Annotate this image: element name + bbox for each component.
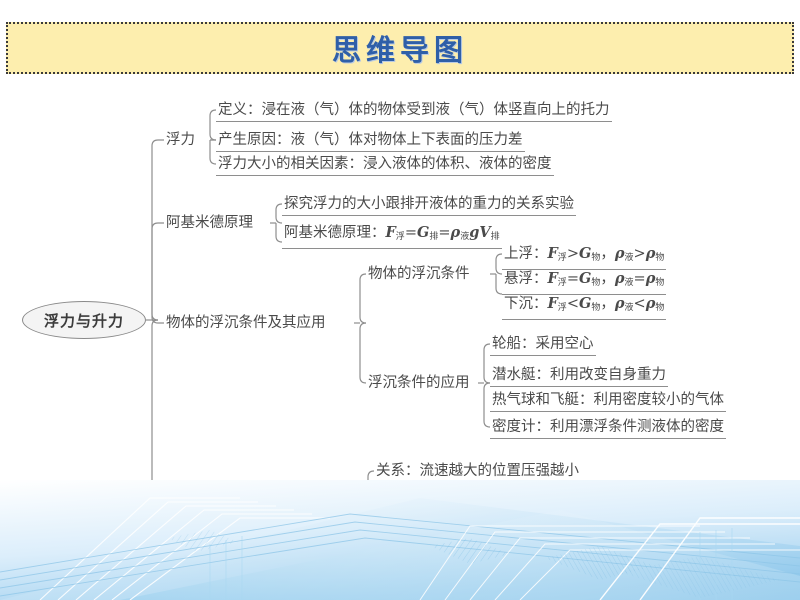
- leaf-fluid-application[interactable]: 应用：飞机机翼、火车站安全线等: [374, 490, 596, 512]
- formula-prefix: 阿基米德原理：: [284, 225, 386, 241]
- slide-page: 思维导图: [0, 0, 800, 600]
- mindmap-canvas: 浮力与升力 浮力 阿基米德原理 物体的浮沉条件及其应用 流体压强与流速的关系 定…: [0, 78, 800, 523]
- sublabel-applications[interactable]: 浮沉条件的应用: [366, 373, 472, 394]
- root-node-label: 浮力与升力: [44, 310, 124, 331]
- leaf-float-up[interactable]: 上浮：F浮>G物，ρ液>ρ物: [502, 244, 666, 270]
- formula-body: F浮=G排=ρ液gV排: [386, 224, 500, 241]
- branch-label-archimedes[interactable]: 阿基米德原理: [164, 213, 255, 234]
- sublabel-floating-conditions[interactable]: 物体的浮沉条件: [366, 264, 472, 285]
- leaf-balloon-airship[interactable]: 热气球和飞艇：利用密度较小的气体: [490, 390, 726, 412]
- leaf-sink-prefix: 下沉：: [504, 296, 548, 312]
- root-node[interactable]: 浮力与升力: [22, 301, 146, 339]
- leaf-archimedes-formula[interactable]: 阿基米德原理：F浮=G排=ρ液gV排: [282, 223, 502, 249]
- leaf-fuli-cause[interactable]: 产生原因：液（气）体对物体上下表面的压力差: [216, 130, 525, 152]
- branch-label-fluid-pressure[interactable]: 流体压强与流速的关系: [164, 480, 313, 501]
- leaf-ship[interactable]: 轮船：采用空心: [490, 334, 596, 356]
- leaf-hydrometer[interactable]: 密度计：利用漂浮条件测液体的密度: [490, 417, 726, 439]
- leaf-submarine[interactable]: 潜水艇：利用改变自身重力: [490, 365, 668, 387]
- title-banner: 思维导图: [6, 22, 794, 74]
- leaf-fuli-factors[interactable]: 浮力大小的相关因素：浸入液体的体积、液体的密度: [216, 154, 554, 176]
- leaf-archimedes-experiment[interactable]: 探究浮力的大小跟排开液体的重力的关系实验: [282, 194, 576, 216]
- branch-label-floating-conditions[interactable]: 物体的浮沉条件及其应用: [164, 313, 328, 334]
- leaf-fuli-definition[interactable]: 定义：浸在液（气）体的物体受到液（气）体竖直向上的托力: [216, 100, 612, 122]
- leaf-suspend-prefix: 悬浮：: [504, 271, 548, 287]
- leaf-float-up-prefix: 上浮：: [504, 246, 548, 262]
- leaf-sink[interactable]: 下沉：F浮<G物，ρ液<ρ物: [502, 294, 666, 320]
- leaf-suspend[interactable]: 悬浮：F浮=G物，ρ液=ρ物: [502, 269, 666, 295]
- branch-label-fuli[interactable]: 浮力: [164, 130, 197, 151]
- page-title: 思维导图: [332, 27, 468, 69]
- leaf-fluid-relation[interactable]: 关系：流速越大的位置压强越小: [374, 461, 581, 483]
